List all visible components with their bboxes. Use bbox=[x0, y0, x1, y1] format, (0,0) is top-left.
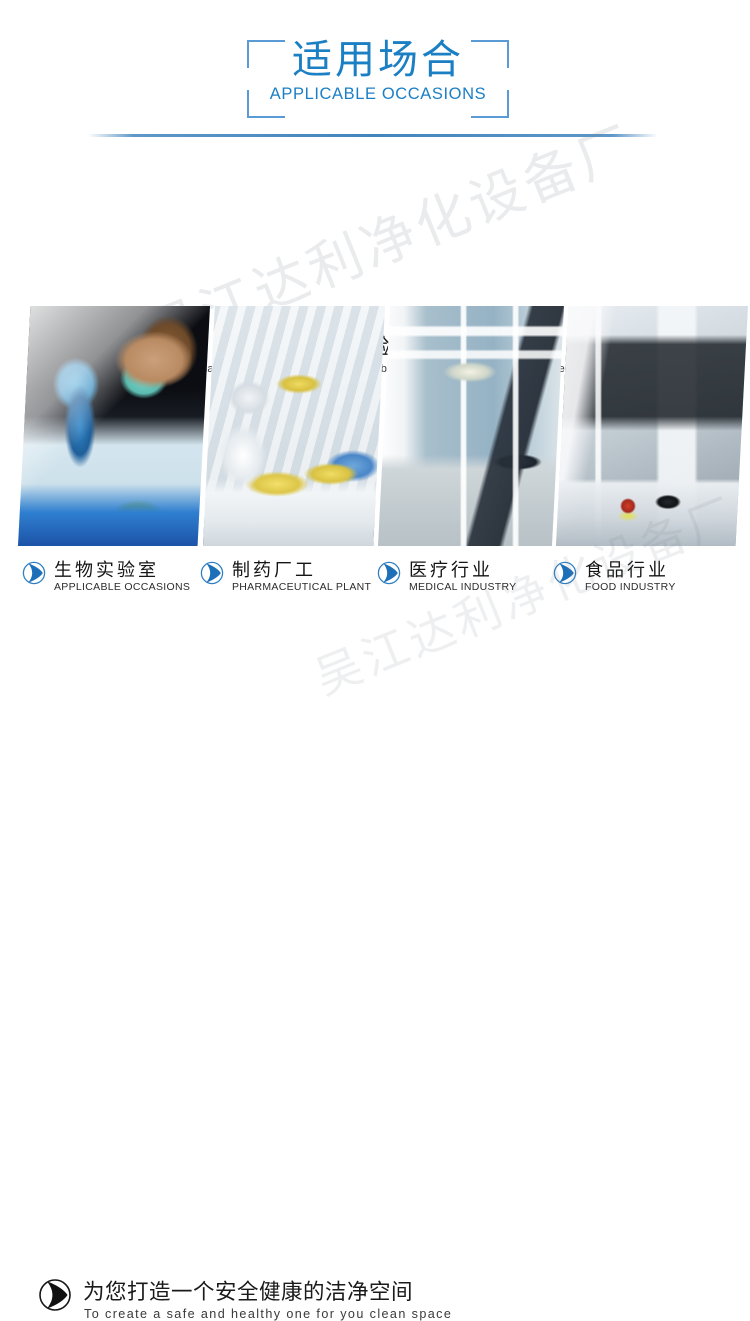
caption-english: APPLICABLE OCCASIONS bbox=[54, 581, 190, 593]
caption-chinese: 生物实验室 bbox=[54, 556, 159, 582]
footer-block: 为您打造一个安全健康的洁净空间 To create a safe and hea… bbox=[0, 630, 750, 710]
page-title-chinese: 适用场合 bbox=[247, 36, 509, 84]
caption-english: FOOD INDUSTRY bbox=[585, 581, 676, 593]
photo-medical-image bbox=[378, 306, 564, 546]
footer-slogan-english: To create a safe and healthy one for you… bbox=[84, 1307, 452, 1321]
photo-food-image bbox=[556, 306, 748, 546]
gallery-photo-food bbox=[556, 306, 748, 546]
circle-arrow-right-icon bbox=[553, 561, 577, 585]
circle-arrow-right-icon bbox=[38, 1278, 72, 1312]
caption-chinese: 食品行业 bbox=[585, 556, 669, 582]
caption-chinese: 医疗行业 bbox=[409, 556, 493, 582]
circle-arrow-right-icon bbox=[377, 561, 401, 585]
circle-arrow-right-icon bbox=[22, 561, 46, 585]
page-header: 适用场合 APPLICABLE OCCASIONS bbox=[0, 0, 750, 148]
title-bracket-frame: 适用场合 APPLICABLE OCCASIONS bbox=[247, 40, 509, 118]
gallery-strip bbox=[0, 306, 750, 550]
gallery-photo-pharmaceutical bbox=[203, 306, 385, 546]
footer-slogan-chinese: 为您打造一个安全健康的洁净空间 bbox=[83, 1275, 413, 1306]
photo-pharmaceutical-image bbox=[203, 306, 385, 546]
caption-chinese: 制药厂工 bbox=[232, 556, 316, 582]
gallery-photo-laboratory bbox=[18, 306, 210, 546]
gallery-caption-row: 生物实验室 APPLICABLE OCCASIONS 制药厂工 PHARMACE… bbox=[0, 556, 750, 602]
gallery-photo-medical bbox=[378, 306, 564, 546]
caption-english: MEDICAL INDUSTRY bbox=[409, 581, 516, 593]
circle-arrow-right-icon bbox=[200, 561, 224, 585]
page-title-english: APPLICABLE OCCASIONS bbox=[247, 85, 509, 104]
photo-laboratory-image bbox=[18, 306, 210, 546]
intro-block: 适用于医用、制药厂、生物实验室、食品加工厂、电子工厂 Applicable to… bbox=[0, 160, 750, 290]
header-divider bbox=[88, 134, 658, 137]
caption-english: PHARMACEUTICAL PLANT bbox=[232, 581, 371, 593]
